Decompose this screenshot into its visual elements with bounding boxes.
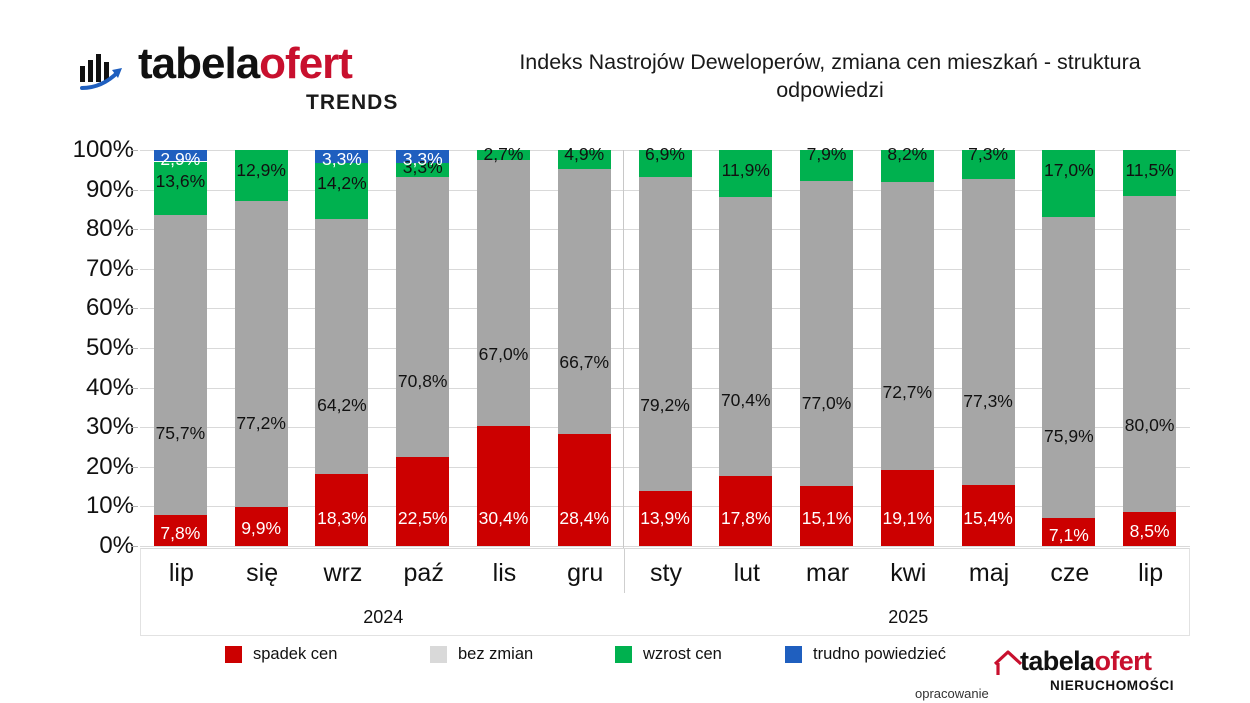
data-label: 79,2% xyxy=(640,397,690,415)
footer-word-part1: tabela xyxy=(1020,646,1094,676)
footer-subtitle: NIERUCHOMOŚCI xyxy=(1050,678,1174,693)
data-label: 3,3% xyxy=(322,151,362,169)
y-axis-tick xyxy=(131,269,138,270)
data-label: 80,0% xyxy=(1125,417,1175,435)
y-axis-label: 10% xyxy=(86,492,134,520)
data-label: 15,4% xyxy=(963,510,1013,528)
brand-word-part1: tabela xyxy=(138,39,259,88)
y-axis-label: 70% xyxy=(86,255,134,283)
chart-legend: spadek cenbez zmianwzrost centrudno powi… xyxy=(140,645,980,673)
category-label: paź xyxy=(384,559,464,588)
credit-text: opracowanie xyxy=(915,686,989,701)
bar-segment[interactable] xyxy=(881,182,934,470)
data-label: 7,9% xyxy=(807,146,847,164)
y-axis-tick xyxy=(131,506,138,507)
category-label: lis xyxy=(464,559,544,588)
data-label: 14,2% xyxy=(317,175,367,193)
legend-item[interactable]: trudno powiedzieć xyxy=(785,645,946,664)
bar-column[interactable] xyxy=(962,150,1015,546)
data-label: 3,3% xyxy=(403,151,443,169)
legend-item[interactable]: bez zmian xyxy=(430,645,533,664)
y-axis-tick xyxy=(131,150,138,151)
category-axis: lipsięwrzpaźlisgrustylutmarkwimajczelip2… xyxy=(140,548,1190,636)
bar-chart-arrow-icon xyxy=(78,50,142,92)
data-label: 67,0% xyxy=(479,346,529,364)
bar-column[interactable] xyxy=(1042,150,1095,546)
bar-segment[interactable] xyxy=(719,197,772,476)
data-label: 70,4% xyxy=(721,392,771,410)
legend-label: bez zmian xyxy=(458,645,533,664)
bar-column[interactable] xyxy=(558,150,611,546)
footer-wordmark: tabelaofert xyxy=(1020,648,1151,675)
category-label: kwi xyxy=(868,559,948,588)
data-label: 15,1% xyxy=(802,510,852,528)
y-axis-tick xyxy=(131,308,138,309)
data-label: 17,0% xyxy=(1044,162,1094,180)
data-label: 77,0% xyxy=(802,395,852,413)
data-label: 11,9% xyxy=(722,162,770,180)
legend-label: spadek cen xyxy=(253,645,337,664)
bar-segment[interactable] xyxy=(1042,217,1095,518)
data-label: 66,7% xyxy=(559,354,609,372)
category-label: sty xyxy=(626,559,706,588)
y-axis: 0%10%20%30%40%50%60%70%80%90%100% xyxy=(48,150,134,546)
y-axis-label: 40% xyxy=(86,374,134,402)
y-axis-label: 60% xyxy=(86,294,134,322)
bar-segment[interactable] xyxy=(396,177,449,457)
category-label: mar xyxy=(788,559,868,588)
category-label: wrz xyxy=(303,559,383,588)
legend-swatch xyxy=(615,646,632,663)
data-label: 9,9% xyxy=(241,520,281,538)
plot-area: 7,8%75,7%13,6%2,9%9,9%77,2%12,9%18,3%64,… xyxy=(140,150,1190,546)
data-label: 28,4% xyxy=(559,510,609,528)
y-axis-label: 80% xyxy=(86,215,134,243)
bar-column[interactable] xyxy=(235,150,288,546)
legend-label: wzrost cen xyxy=(643,645,722,664)
data-label: 13,9% xyxy=(640,510,690,528)
year-group-divider xyxy=(623,150,624,548)
data-label: 17,8% xyxy=(721,510,771,528)
y-axis-tick xyxy=(131,348,138,349)
footer-word-part2: ofert xyxy=(1094,646,1151,676)
bar-column[interactable] xyxy=(396,150,449,546)
bar-segment[interactable] xyxy=(315,219,368,473)
bar-segment[interactable] xyxy=(962,179,1015,485)
y-axis-tick xyxy=(131,467,138,468)
data-label: 8,2% xyxy=(887,146,927,164)
y-axis-tick xyxy=(131,229,138,230)
bar-column[interactable] xyxy=(800,150,853,546)
brand-word-part2: ofert xyxy=(259,39,352,88)
data-label: 19,1% xyxy=(882,510,932,528)
legend-swatch xyxy=(785,646,802,663)
category-label: gru xyxy=(545,559,625,588)
tabelaofert-nieruchomosci-logo: tabelaofert NIERUCHOMOŚCI xyxy=(992,648,1172,700)
bar-segment[interactable] xyxy=(558,169,611,433)
brand-wordmark: tabelaofert xyxy=(138,42,352,86)
data-label: 70,8% xyxy=(398,373,448,391)
category-label: cze xyxy=(1030,559,1110,588)
group-label-year: 2024 xyxy=(303,607,463,628)
data-label: 75,7% xyxy=(156,425,206,443)
data-label: 11,5% xyxy=(1125,162,1173,180)
bar-column[interactable] xyxy=(1123,150,1176,546)
bar-column[interactable] xyxy=(881,150,934,546)
data-label: 12,9% xyxy=(236,162,286,180)
tabelaofert-trends-logo: tabelaofert TRENDS xyxy=(78,44,388,114)
bar-segment[interactable] xyxy=(639,177,692,491)
data-label: 22,5% xyxy=(398,510,448,528)
data-label: 64,2% xyxy=(317,397,367,415)
y-axis-tick xyxy=(131,190,138,191)
data-label: 7,1% xyxy=(1049,527,1089,545)
y-axis-label: 30% xyxy=(86,413,134,441)
data-label: 30,4% xyxy=(479,510,529,528)
legend-label: trudno powiedzieć xyxy=(813,645,946,664)
legend-item[interactable]: spadek cen xyxy=(225,645,337,664)
gridline xyxy=(140,546,1190,547)
chart-title: Indeks Nastrojów Deweloperów, zmiana cen… xyxy=(470,48,1190,105)
data-label: 77,2% xyxy=(236,415,286,433)
data-label: 7,3% xyxy=(968,146,1008,164)
data-label: 7,8% xyxy=(160,525,200,543)
legend-swatch xyxy=(430,646,447,663)
data-label: 75,9% xyxy=(1044,428,1094,446)
bar-segment[interactable] xyxy=(477,160,530,425)
data-label: 72,7% xyxy=(882,384,932,402)
brand-subtitle: TRENDS xyxy=(306,91,398,115)
y-axis-label: 20% xyxy=(86,453,134,481)
bar-column[interactable] xyxy=(719,150,772,546)
y-axis-tick xyxy=(131,427,138,428)
data-label: 2,7% xyxy=(484,146,524,164)
category-label: się xyxy=(222,559,302,588)
category-group-divider xyxy=(624,549,625,593)
bar-segment[interactable] xyxy=(235,201,288,507)
bar-segment[interactable] xyxy=(154,215,207,515)
bar-column[interactable] xyxy=(154,150,207,546)
category-label: lip xyxy=(141,559,221,588)
data-label: 8,5% xyxy=(1130,523,1170,541)
bar-column[interactable] xyxy=(315,150,368,546)
y-axis-tick xyxy=(131,546,138,547)
category-label: lip xyxy=(1111,559,1191,588)
group-label-year: 2025 xyxy=(828,607,988,628)
bar-column[interactable] xyxy=(639,150,692,546)
legend-item[interactable]: wzrost cen xyxy=(615,645,722,664)
legend-swatch xyxy=(225,646,242,663)
y-axis-tick xyxy=(131,388,138,389)
bar-segment[interactable] xyxy=(800,181,853,486)
data-label: 13,6% xyxy=(156,173,206,191)
category-label: maj xyxy=(949,559,1029,588)
bar-segment[interactable] xyxy=(558,434,611,546)
bar-segment[interactable] xyxy=(396,457,449,546)
y-axis-label: 90% xyxy=(86,176,134,204)
data-label: 2,9% xyxy=(160,151,200,169)
chart-page: tabelaofert TRENDS Indeks Nastrojów Dewe… xyxy=(0,0,1250,703)
bar-segment[interactable] xyxy=(1123,196,1176,513)
y-axis-label: 0% xyxy=(99,532,134,560)
data-label: 18,3% xyxy=(317,510,367,528)
data-label: 77,3% xyxy=(963,393,1013,411)
data-label: 4,9% xyxy=(564,146,604,164)
y-axis-label: 50% xyxy=(86,334,134,362)
category-label: lut xyxy=(707,559,787,588)
y-axis-label: 100% xyxy=(73,136,134,164)
data-label: 6,9% xyxy=(645,146,685,164)
